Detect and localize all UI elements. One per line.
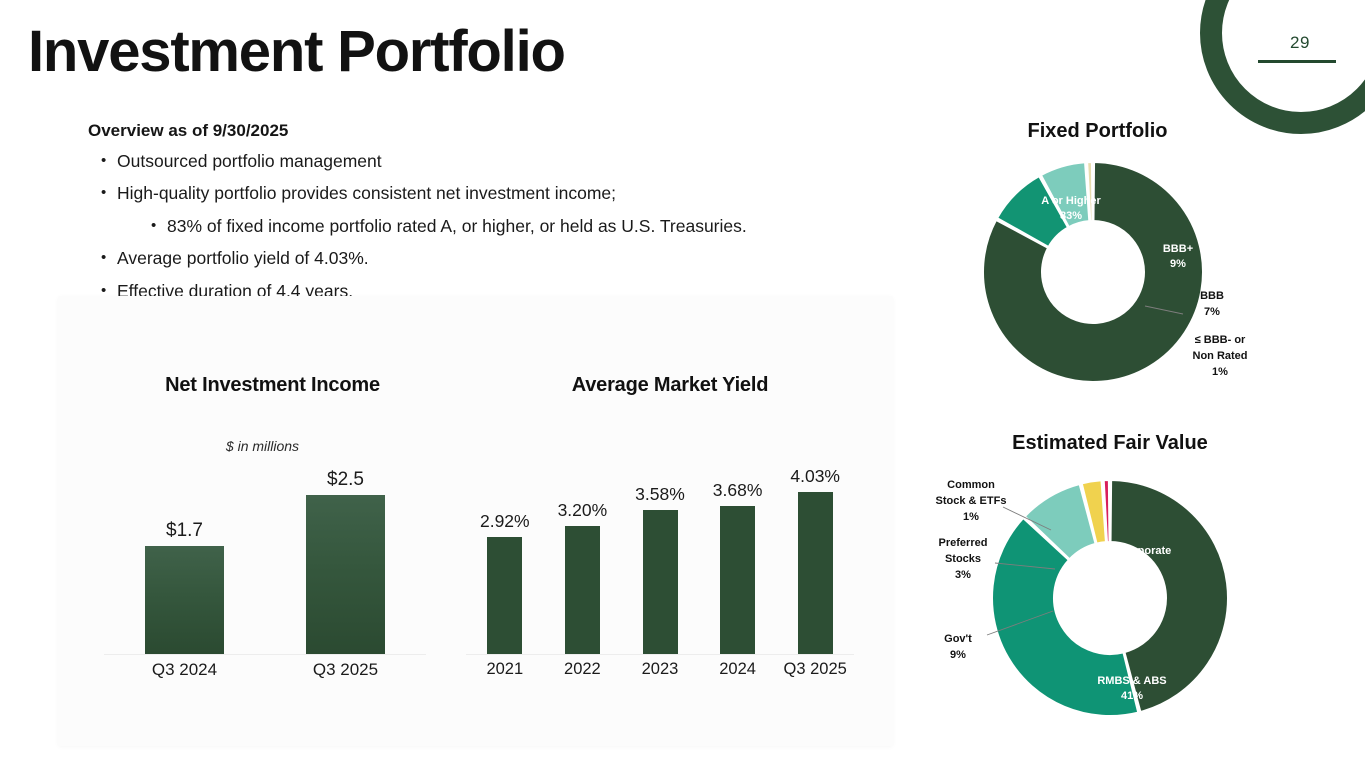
chart-title-fixed-portfolio: Fixed Portfolio [960,119,1235,143]
slice-label-bbb: BBB [1200,290,1224,302]
overview-block: Overview as of 9/30/2025 • Outsourced po… [88,120,888,312]
chart-title-net-investment-income: Net Investment Income [100,373,445,397]
bar-value-label: 3.58% [621,486,699,504]
category-label: Q3 2024 [104,661,265,678]
list-item: • Outsourced portfolio management [88,150,888,172]
overview-heading: Overview as of 9/30/2025 [88,120,888,142]
list-item: • Average portfolio yield of 4.03%. [88,247,888,269]
chart-fixed-portfolio: A or Higher 83% BBB+ 9% BBB 7% ≤ BBB- or… [975,160,1265,385]
slice-label-low-rated-pct: 1% [1212,366,1228,378]
slice-label-govt: Gov't [944,633,972,645]
chart-average-market-yield: 2.92%20213.20%20223.58%20233.68%20244.03… [466,455,854,655]
bar-2024 [720,506,755,653]
chart-net-investment-income: $1.7Q3 2024$2.5Q3 2025 [104,455,426,655]
category-label: 2024 [699,661,777,678]
chart-baseline [104,654,426,656]
list-item: • High-quality portfolio provides consis… [88,182,888,204]
chart-title-estimated-fair-value: Estimated Fair Value [960,431,1260,455]
slice-label-rmbs-abs-pct: 41% [1121,690,1143,702]
bar-q3-2024 [145,546,224,653]
chart-baseline [466,654,854,656]
bullet-icon: • [101,247,117,268]
bullet-icon: • [101,182,117,203]
bar-2021 [487,537,522,654]
bullet-icon: • [151,215,167,236]
slice-label-rmbs-abs: RMBS & ABS [1097,675,1166,687]
list-item-text: 83% of fixed income portfolio rated A, o… [167,215,888,237]
page-number-text: 29 [1290,33,1310,52]
bar-value-label: $2.5 [265,470,426,489]
slice-label-preferred-pct: 3% [955,569,971,581]
bar-value-label: 3.20% [544,502,622,520]
chart-subtitle-units: $ in millions [160,438,365,454]
slice-label-bbb-pct: 7% [1204,306,1220,318]
slice-label-low-rated-2: Non Rated [1193,350,1248,362]
slice-label-common-1: Common [947,479,995,491]
slice-label-corporate: Corporate [1119,545,1172,557]
page-title: Investment Portfolio [28,22,565,83]
bar-value-label: 4.03% [776,468,854,486]
slice-label-preferred-1: Preferred [939,537,988,549]
list-item-text: High-quality portfolio provides consiste… [117,182,888,204]
category-label: Q3 2025 [776,661,854,678]
slice-label-corporate-pct: 46% [1134,560,1156,572]
bar-value-label: 3.68% [699,482,777,500]
page-number-rule [1258,60,1336,63]
slice-label-preferred-2: Stocks [945,553,981,565]
chart-title-average-market-yield: Average Market Yield [470,373,870,397]
slice-label-common-2: Stock & ETFs [936,495,1007,507]
category-label: 2022 [544,661,622,678]
bar-2023 [643,510,678,653]
list-item-text: Outsourced portfolio management [117,150,888,172]
slice-label-bbb-plus-pct: 9% [1170,258,1186,270]
slice-label-low-rated-1: ≤ BBB- or [1195,334,1246,346]
bar-q3-2025 [798,492,833,653]
bar-value-label: 2.92% [466,513,544,531]
category-label: 2021 [466,661,544,678]
chart-estimated-fair-value: Corporate 46% RMBS & ABS 41% Gov't 9% Pr… [925,470,1255,725]
list-item-text: Average portfolio yield of 4.03%. [117,247,888,269]
bullet-icon: • [101,150,117,171]
slice-label-common-pct: 1% [963,511,979,523]
category-label: 2023 [621,661,699,678]
bar-q3-2025 [306,495,385,653]
slide-canvas: 29 Investment Portfolio Overview as of 9… [0,0,1365,768]
slice-label-bbb-plus: BBB+ [1163,243,1193,255]
page-number: 29 [1255,34,1345,53]
decorative-ring-graphic [1196,0,1365,138]
slice-label-a-or-higher: A or Higher [1041,195,1101,207]
bar-value-label: $1.7 [104,521,265,540]
category-label: Q3 2025 [265,661,426,678]
slice-label-govt-pct: 9% [950,649,966,661]
list-item: • 83% of fixed income portfolio rated A,… [88,215,888,237]
slice-label-a-or-higher-pct: 83% [1060,210,1082,222]
bar-2022 [565,526,600,654]
